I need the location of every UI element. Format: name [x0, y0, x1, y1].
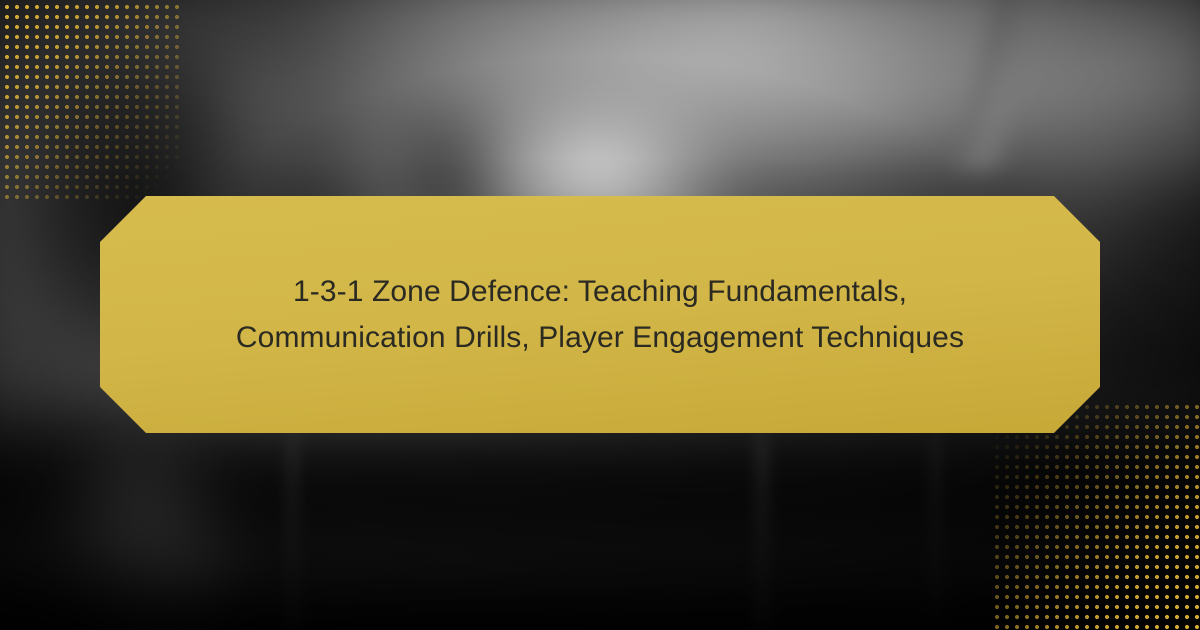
title-card: 1-3-1 Zone Defence: Teaching Fundamental… — [100, 196, 1100, 433]
og-card-canvas: 1-3-1 Zone Defence: Teaching Fundamental… — [0, 0, 1200, 630]
page-title: 1-3-1 Zone Defence: Teaching Fundamental… — [220, 269, 980, 360]
halftone-dots-top-left-icon — [0, 0, 180, 200]
halftone-dots-bottom-right-icon — [990, 400, 1200, 630]
